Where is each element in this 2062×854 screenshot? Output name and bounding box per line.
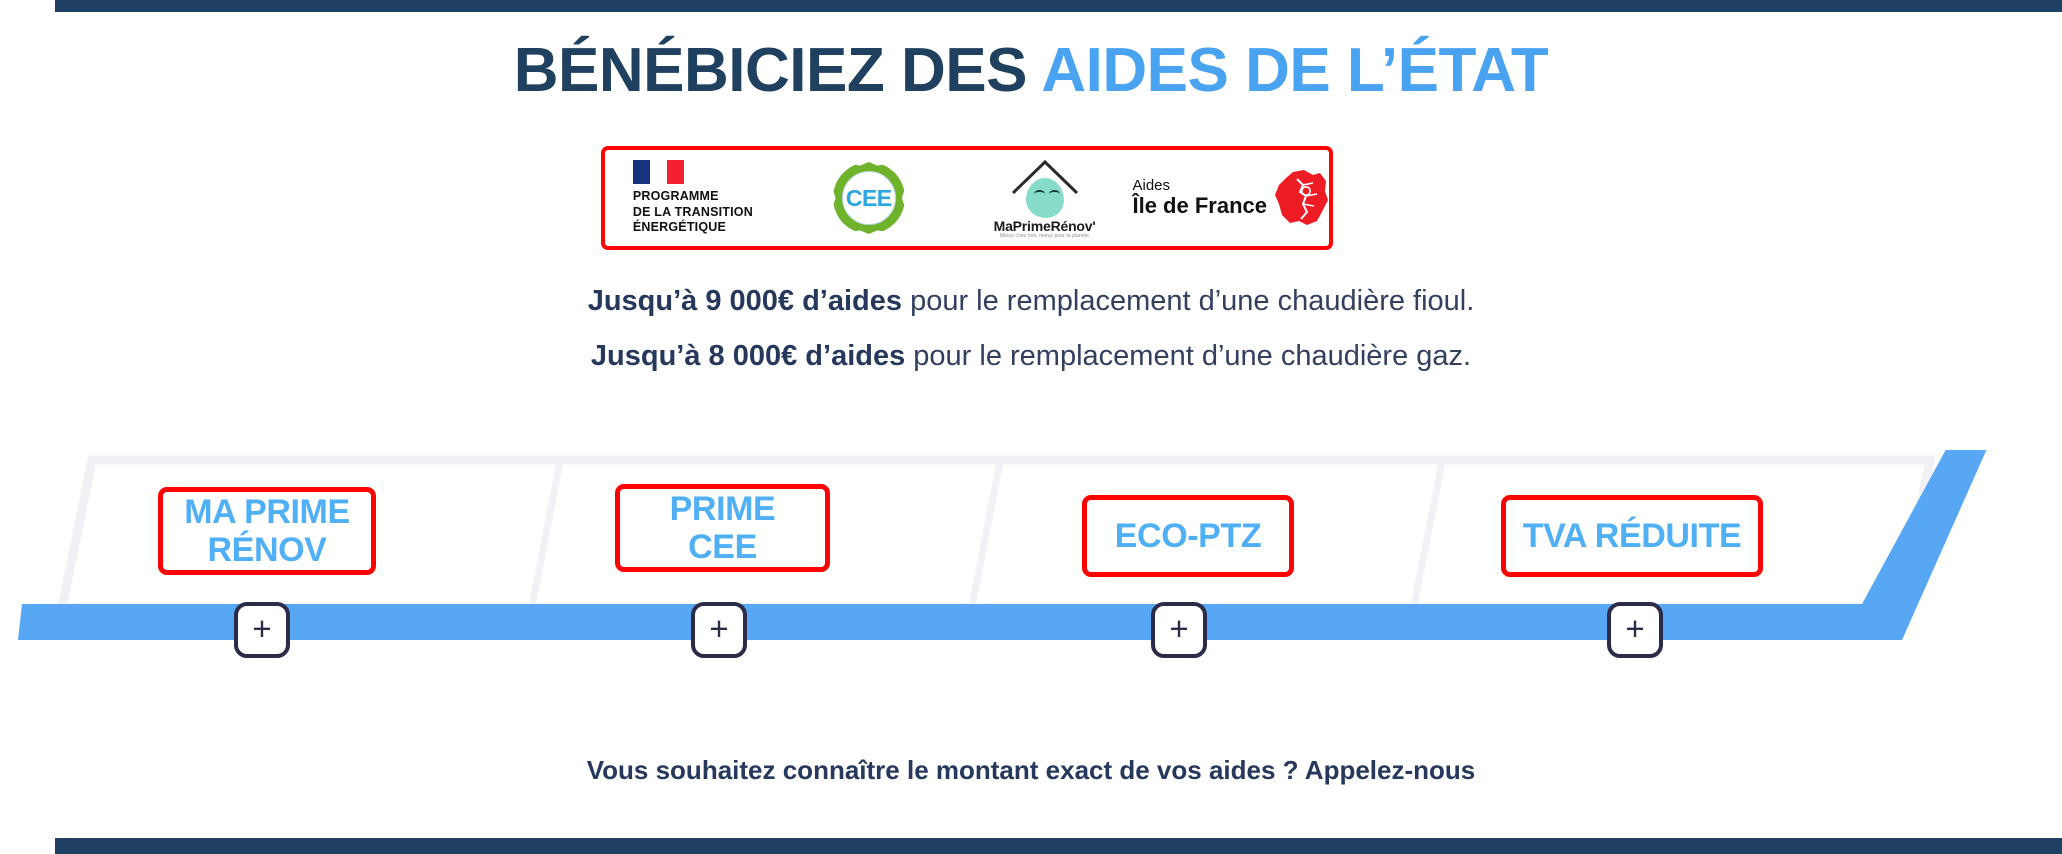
aid-badge-eco-ptz[interactable]: ECO-PTZ	[1082, 495, 1294, 577]
cee-logo-label: CEE	[846, 187, 892, 210]
page-title-light-part: AIDES DE L’ÉTAT	[1041, 36, 1548, 105]
renov-eye-left-icon	[1034, 190, 1045, 198]
aid-badge-1-line1: MA PRIME	[184, 493, 350, 531]
aid-amount-line-1: Jusqu’à 9 000€ d’aides pour le remplacem…	[0, 285, 2062, 318]
plus-icon: +	[709, 612, 728, 645]
aid-badge-prime-cee[interactable]: PRIME CEE	[615, 484, 830, 572]
expand-toggle-ma-prime-renov[interactable]: +	[234, 602, 290, 658]
aid-amount-strong-2: Jusqu’à 8 000€ d’aides	[591, 340, 905, 372]
renov-face-blob-icon	[1026, 178, 1064, 218]
expand-toggle-eco-ptz[interactable]: +	[1151, 602, 1207, 658]
plus-icon: +	[1625, 612, 1644, 645]
idf-logo-line1: Aides	[1132, 178, 1267, 194]
maprimerenov-label: MaPrimeRénov'	[979, 218, 1111, 234]
aid-amount-rest-1: pour le remplacement d’une chaudière fio…	[902, 285, 1474, 317]
renov-eye-right-icon	[1049, 190, 1060, 198]
logo-cell-maprimerenov: MaPrimeRénov' Mieux chez moi, mieux pour…	[957, 150, 1133, 246]
maprimerenov-logo: MaPrimeRénov' Mieux chez moi, mieux pour…	[979, 155, 1111, 241]
aid-badge-2-line2: CEE	[688, 528, 757, 566]
logo-cell-programme: PROGRAMME DE LA TRANSITION ÉNERGÉTIQUE	[605, 150, 781, 246]
aid-amount-line-2: Jusqu’à 8 000€ d’aides pour le remplacem…	[0, 340, 2062, 373]
aid-badge-tva-reduite[interactable]: TVA RÉDUITE	[1501, 495, 1763, 577]
programme-transition-energetique-logo: PROGRAMME DE LA TRANSITION ÉNERGÉTIQUE	[633, 160, 753, 236]
programme-logo-line3: ÉNERGÉTIQUE	[633, 220, 753, 236]
expand-toggle-prime-cee[interactable]: +	[691, 602, 747, 658]
call-to-action-text: Vous souhaitez connaître le montant exac…	[0, 755, 2062, 786]
programme-logo-line1: PROGRAMME	[633, 189, 753, 205]
aides-ile-de-france-logo: Aides Île de France	[1132, 169, 1329, 227]
expand-toggle-tva-reduite[interactable]: +	[1607, 602, 1663, 658]
page-title: BÉNÉBICIEZ DES AIDES DE L’ÉTAT	[0, 38, 2062, 103]
programme-logo-text: PROGRAMME DE LA TRANSITION ÉNERGÉTIQUE	[633, 189, 753, 236]
programme-logo-line2: DE LA TRANSITION	[633, 205, 753, 221]
aid-badge-4-line1: TVA RÉDUITE	[1523, 517, 1742, 555]
aid-amount-rest-2: pour le remplacement d’une chaudière gaz…	[905, 340, 1471, 372]
logo-cell-iledefrance: Aides Île de France	[1132, 150, 1329, 246]
progress-bar-track	[18, 604, 1862, 640]
cee-logo: CEE	[833, 162, 905, 234]
logo-cell-cee: CEE	[781, 150, 957, 246]
ile-de-france-map-icon	[1273, 169, 1329, 227]
maprimerenov-tagline: Mieux chez moi, mieux pour la planète	[979, 233, 1111, 239]
idf-logo-line2: Île de France	[1132, 194, 1267, 218]
french-flag-icon	[633, 160, 685, 184]
aid-badge-1-line2: RÉNOV	[208, 531, 327, 569]
aid-badge-3-line1: ECO-PTZ	[1115, 517, 1261, 555]
plus-icon: +	[252, 612, 271, 645]
bottom-divider-bar	[55, 838, 2062, 854]
aid-badge-ma-prime-renov[interactable]: MA PRIME RÉNOV	[158, 487, 376, 575]
plus-icon: +	[1169, 612, 1188, 645]
cee-inner-circle: CEE	[842, 171, 896, 225]
aid-amount-strong-1: Jusqu’à 9 000€ d’aides	[588, 285, 902, 317]
page-title-dark-part: BÉNÉBICIEZ DES	[514, 36, 1042, 105]
top-divider-bar	[55, 0, 2062, 12]
partner-logo-strip: PROGRAMME DE LA TRANSITION ÉNERGÉTIQUE C…	[601, 146, 1333, 250]
aid-badge-2-line1: PRIME	[670, 490, 776, 528]
